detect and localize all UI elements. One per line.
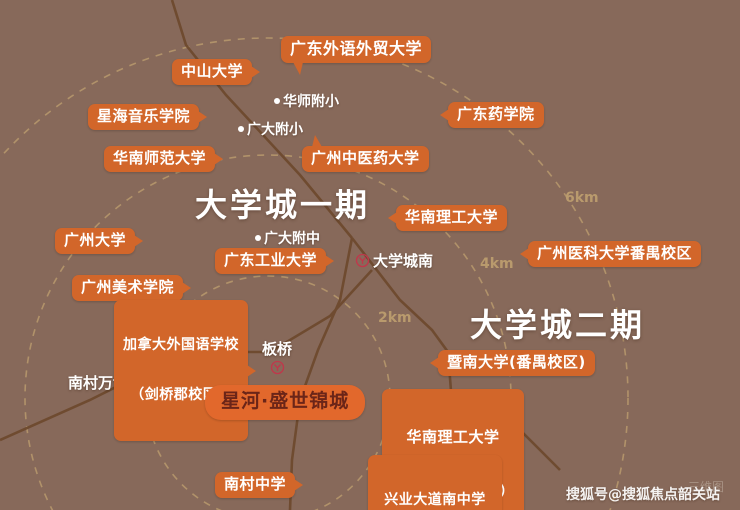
ring-label-4km: 4km <box>480 256 514 272</box>
callout-guangzhou-zhongyiyao-daxue[interactable]: 广州中医药大学 <box>302 146 429 172</box>
callout-xinghai-yinyue-xueyuan[interactable]: 星海音乐学院 <box>88 104 199 130</box>
poi-label: 华师附小 <box>283 91 339 111</box>
metro-station-label: 大学城南 <box>373 250 433 271</box>
metro-station-label: 板桥 <box>262 338 292 359</box>
map-canvas[interactable]: 大学城一期 大学城二期 2km 4km 6km 华师附小 广大附小 广大附中 大… <box>0 0 740 510</box>
road-south-east <box>290 238 352 510</box>
poi-guangdafuxiao[interactable]: 广大附小 <box>238 119 303 139</box>
ring-label-2km: 2km <box>378 310 412 326</box>
metro-logo-icon <box>355 253 370 268</box>
poi-label: 广大附小 <box>247 119 303 139</box>
poi-guangdafuzhong[interactable]: 广大附中 <box>255 228 320 248</box>
callout-line-1: 加拿大外国语学校 <box>123 337 239 354</box>
callout-guangdong-waiyu-waimao-daxue[interactable]: 广东外语外贸大学 <box>281 36 431 63</box>
district-name-1: 大学城一期 <box>195 180 370 226</box>
callout-huanan-ligong-daxue[interactable]: 华南理工大学 <box>396 205 507 231</box>
callout-line-1: 兴业大道南中学 <box>377 492 493 509</box>
poi-dot-icon <box>238 126 244 132</box>
poi-huashifuxiao[interactable]: 华师附小 <box>274 91 339 111</box>
callout-guangzhou-meishu-xueyuan[interactable]: 广州美术学院 <box>72 275 183 301</box>
callout-zhongshan-daxue[interactable]: 中山大学 <box>172 59 252 85</box>
subject-property-label[interactable]: 星河·盛世锦城 <box>205 385 365 420</box>
callout-guangzhou-daxue[interactable]: 广州大学 <box>55 228 135 254</box>
district-name-2: 大学城二期 <box>470 300 645 346</box>
metro-station-banqiao[interactable]: 板桥 <box>262 338 292 375</box>
callout-huanan-shifan-daxue[interactable]: 华南师范大学 <box>104 146 215 172</box>
callout-guangdong-gongye-daxue[interactable]: 广东工业大学 <box>215 248 326 274</box>
poi-dot-icon <box>255 235 261 241</box>
callout-guangdong-yaoxueyuan[interactable]: 广东药学院 <box>448 102 544 128</box>
ring-label-6km: 6km <box>565 190 599 206</box>
poi-dot-icon <box>274 98 280 104</box>
metro-logo-icon <box>270 360 285 375</box>
metro-station-daxuechengnan[interactable]: 大学城南 <box>355 250 433 271</box>
callout-jianada-waiguoyu-xuexiao[interactable]: 加拿大外国语学校 （剑桥郡校区） <box>114 300 248 441</box>
callout-nancun-zhongxue[interactable]: 南村中学 <box>215 472 295 498</box>
callout-line-1: 华南理工大学 <box>391 428 515 446</box>
callout-jinan-daxue-panyu[interactable]: 暨南大学(番禺校区) <box>438 350 595 376</box>
callout-guangzhou-yike-daxue-panyu[interactable]: 广州医科大学番禺校区 <box>528 241 701 267</box>
poi-label: 广大附中 <box>264 228 320 248</box>
watermark: 搜狐号@搜狐焦点韶关站 <box>566 484 720 504</box>
callout-xingye-dadaonan-zhongxue[interactable]: 兴业大道南中学 （规划番禺中学） <box>368 455 502 510</box>
